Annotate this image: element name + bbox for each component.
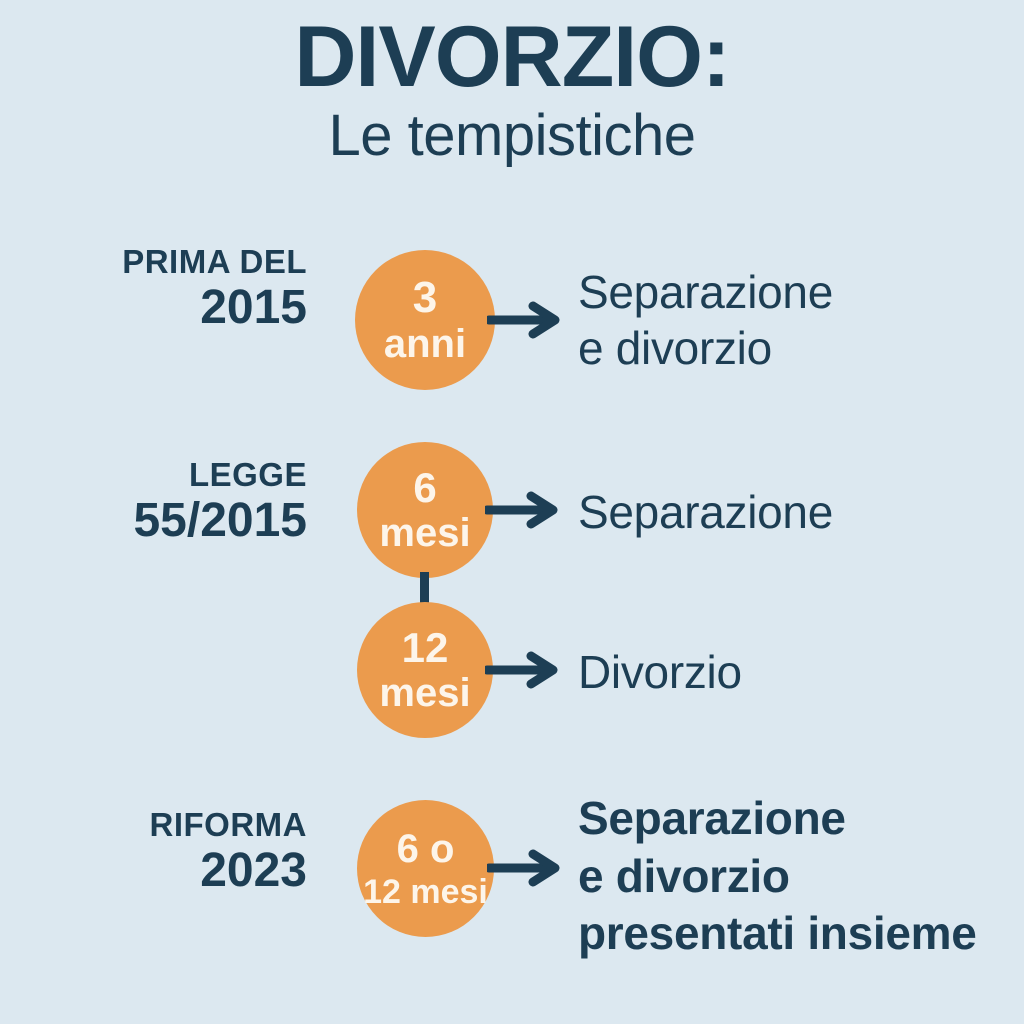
infographic-canvas: DIVORZIO: Le tempistiche PRIMA DEL 2015 … bbox=[0, 0, 1024, 1024]
page-subtitle: Le tempistiche bbox=[0, 106, 1024, 167]
row-label-top: PRIMA DEL bbox=[0, 245, 307, 278]
page-title: DIVORZIO: bbox=[0, 14, 1024, 102]
row-label-prima-del-2015: PRIMA DEL 2015 bbox=[0, 245, 307, 332]
row-description-divorzio: Divorzio bbox=[578, 644, 742, 700]
row-description-riforma-2023: Separazione e divorzio presentati insiem… bbox=[578, 790, 977, 963]
desc-line: Separazione bbox=[578, 484, 833, 540]
duration-circle-12-mesi[interactable]: 12 mesi bbox=[357, 602, 493, 738]
circle-unit: mesi bbox=[379, 673, 470, 713]
circle-value: 6 bbox=[413, 467, 436, 509]
circle-unit: anni bbox=[384, 324, 466, 364]
row-label-top: LEGGE bbox=[0, 458, 307, 491]
circle-value: 6 o bbox=[397, 829, 455, 869]
row-description-prima-del-2015: Separazione e divorzio bbox=[578, 264, 833, 376]
duration-circle-6-mesi[interactable]: 6 mesi bbox=[357, 442, 493, 578]
desc-line: Separazione bbox=[578, 790, 977, 848]
row-label-top: RIFORMA bbox=[0, 808, 307, 841]
circle-unit: 12 mesi bbox=[363, 875, 488, 909]
arrow-icon bbox=[485, 650, 565, 690]
row-label-bottom: 55/2015 bbox=[0, 497, 307, 545]
row-description-separazione: Separazione bbox=[578, 484, 833, 540]
arrow-icon bbox=[487, 300, 567, 340]
circle-unit: mesi bbox=[379, 513, 470, 553]
arrow-icon bbox=[487, 848, 567, 888]
row-label-bottom: 2015 bbox=[0, 284, 307, 332]
desc-line: e divorzio bbox=[578, 320, 833, 376]
duration-circle-3-anni[interactable]: 3 anni bbox=[355, 250, 495, 390]
header: DIVORZIO: Le tempistiche bbox=[0, 14, 1024, 167]
row-label-riforma-2023: RIFORMA 2023 bbox=[0, 808, 307, 895]
circle-value: 3 bbox=[413, 276, 437, 320]
duration-circle-6-o-12-mesi[interactable]: 6 o 12 mesi bbox=[357, 800, 494, 937]
circle-value: 12 bbox=[402, 627, 449, 669]
desc-line: presentati insieme bbox=[578, 905, 977, 963]
node-connector-line bbox=[420, 572, 429, 606]
desc-line: Separazione bbox=[578, 264, 833, 320]
row-label-bottom: 2023 bbox=[0, 847, 307, 895]
desc-line: e divorzio bbox=[578, 848, 977, 906]
arrow-icon bbox=[485, 490, 565, 530]
row-label-legge-55-2015: LEGGE 55/2015 bbox=[0, 458, 307, 545]
desc-line: Divorzio bbox=[578, 644, 742, 700]
